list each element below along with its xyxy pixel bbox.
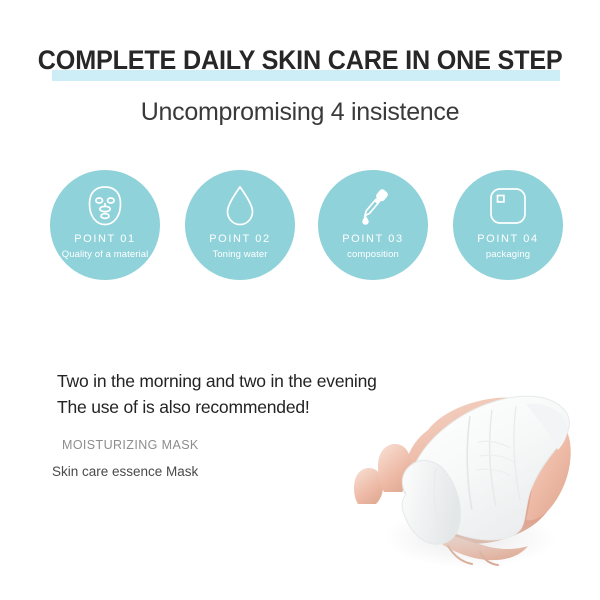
- pouch-package-icon: [453, 183, 563, 228]
- point-title: POINT 04: [453, 232, 563, 246]
- point-subtitle: packaging: [453, 248, 563, 261]
- point-title: POINT 03: [318, 232, 428, 246]
- product-name: MOISTURIZING MASK: [62, 436, 199, 455]
- point-subtitle: Quality of a material: [50, 248, 160, 261]
- product-photo-hand-holding-mask: [320, 370, 600, 600]
- point-item-03: POINT 03 composition: [318, 170, 428, 280]
- point-title: POINT 01: [50, 232, 160, 246]
- point-subtitle: Toning water: [185, 248, 295, 261]
- point-item-01: POINT 01 Quality of a material: [50, 170, 160, 280]
- point-title: POINT 02: [185, 232, 295, 246]
- product-subtitle: Skin care essence Mask: [52, 462, 198, 481]
- title-container: COMPLETE DAILY SKIN CARE IN ONE STEP: [0, 44, 600, 76]
- dropper-pipette-icon: [318, 183, 428, 228]
- water-drop-icon: [185, 183, 295, 228]
- face-sheet-mask-icon: [50, 183, 160, 228]
- point-subtitle: composition: [318, 248, 428, 261]
- product-banner: COMPLETE DAILY SKIN CARE IN ONE STEP Unc…: [0, 0, 600, 600]
- points-row: POINT 01 Quality of a material POINT 02 …: [0, 170, 600, 285]
- page-title: COMPLETE DAILY SKIN CARE IN ONE STEP: [38, 44, 563, 76]
- point-item-04: POINT 04 packaging: [453, 170, 563, 280]
- header: COMPLETE DAILY SKIN CARE IN ONE STEP Unc…: [0, 0, 600, 150]
- point-item-02: POINT 02 Toning water: [185, 170, 295, 280]
- page-subtitle: Uncompromising 4 insistence: [0, 96, 600, 128]
